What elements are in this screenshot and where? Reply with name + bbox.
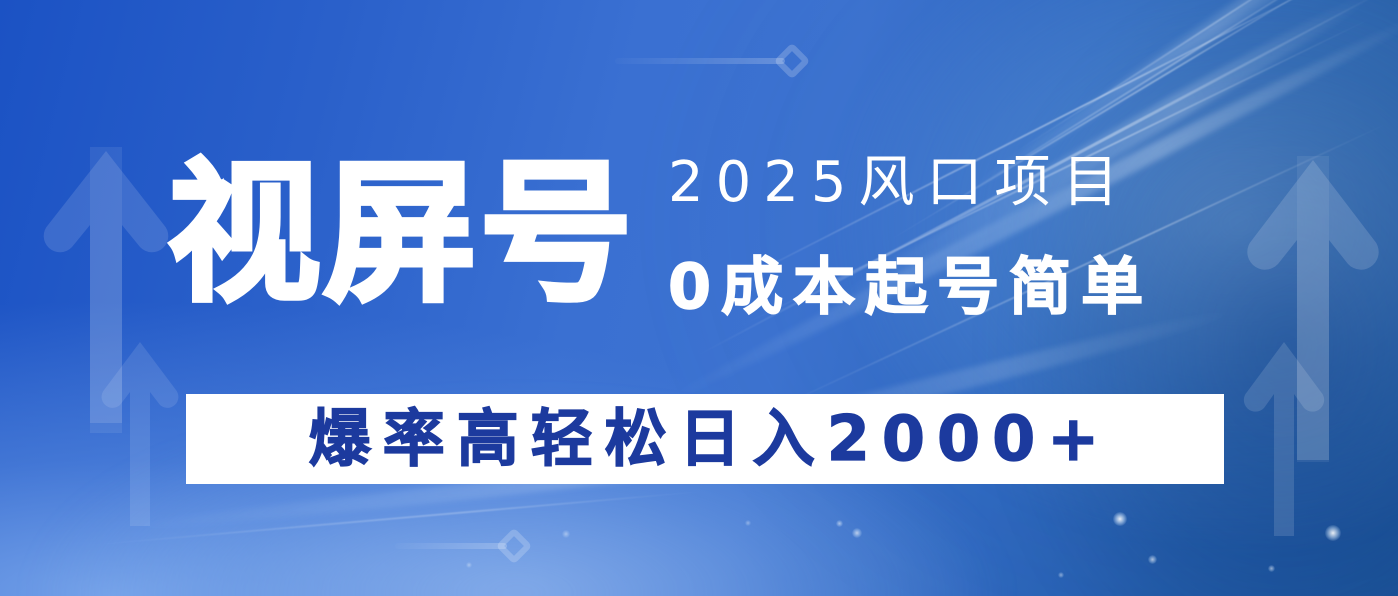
ribbon-text: 爆率高轻松日入2000+ (299, 406, 1112, 472)
side-text-line-2: 0成本起号简单 (668, 252, 1153, 322)
highlight-ribbon: 爆率高轻松日入2000+ (186, 394, 1224, 484)
up-arrow-icon-right-small (1238, 330, 1330, 540)
up-arrow-icon-left-small (96, 330, 184, 530)
diamond-marker-icon-top (615, 48, 805, 74)
diamond-marker-icon-bottom (395, 533, 527, 559)
promo-banner: 视屏号 2025风口项目 0成本起号简单 爆率高轻松日入2000+ (0, 0, 1398, 596)
side-text-line-1: 2025风口项目 (668, 150, 1153, 216)
side-text-block: 2025风口项目 0成本起号简单 (668, 150, 1153, 322)
page-title: 视屏号 (168, 158, 636, 310)
